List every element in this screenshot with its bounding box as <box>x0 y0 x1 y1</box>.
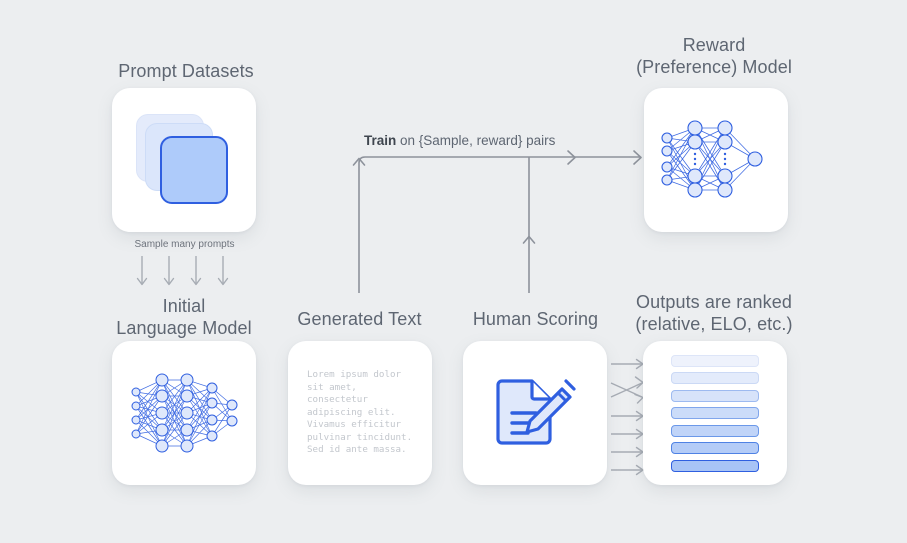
train-label-bold: Train <box>364 133 396 148</box>
page-title-initial-language-model: Initial Language Model <box>84 295 284 339</box>
ranked-bar <box>671 372 759 384</box>
generated-text-to-reward-wire <box>354 151 642 293</box>
page-title-outputs-ranked: Outputs are ranked (relative, ELO, etc.) <box>613 291 815 335</box>
ranked-bar <box>671 442 759 454</box>
neural-network-icon <box>124 358 244 468</box>
neural-network-icon <box>657 110 775 210</box>
card-prompt-datasets[interactable] <box>112 88 256 232</box>
caption-sample-many-prompts: Sample many prompts <box>82 238 287 251</box>
ranked-bar <box>671 460 759 472</box>
card-initial-language-model[interactable] <box>112 341 256 485</box>
page-title-reward-model: Reward (Preference) Model <box>613 34 815 78</box>
card-human-scoring[interactable] <box>463 341 607 485</box>
scoring-to-ranked-arrows <box>611 360 643 475</box>
page-title-generated-text: Generated Text <box>262 308 457 330</box>
human-scoring-to-reward-wire <box>524 157 535 293</box>
ranked-bars-icon <box>671 355 759 472</box>
train-label-rest: on {Sample, reward} pairs <box>396 133 555 148</box>
sample-prompt-arrows <box>138 256 228 285</box>
ranked-bar <box>671 355 759 367</box>
document-edit-icon <box>492 373 578 453</box>
diagram-canvas: Prompt Datasets Sample many prompts Init… <box>0 0 907 543</box>
generated-text-body: Lorem ipsum dolor sit amet, consectetur … <box>307 369 415 457</box>
ranked-bar <box>671 425 759 437</box>
card-outputs-ranked[interactable] <box>643 341 787 485</box>
page-title-prompt-datasets: Prompt Datasets <box>86 60 286 82</box>
card-generated-text[interactable]: Lorem ipsum dolor sit amet, consectetur … <box>288 341 432 485</box>
card-reward-model[interactable]: Text rθ <box>644 88 788 232</box>
ranked-bar <box>671 407 759 419</box>
page-title-human-scoring: Human Scoring <box>438 308 633 330</box>
train-pairs-label: Train on {Sample, reward} pairs <box>364 133 555 149</box>
ranked-bar <box>671 390 759 402</box>
stacked-cards-icon <box>136 114 232 206</box>
